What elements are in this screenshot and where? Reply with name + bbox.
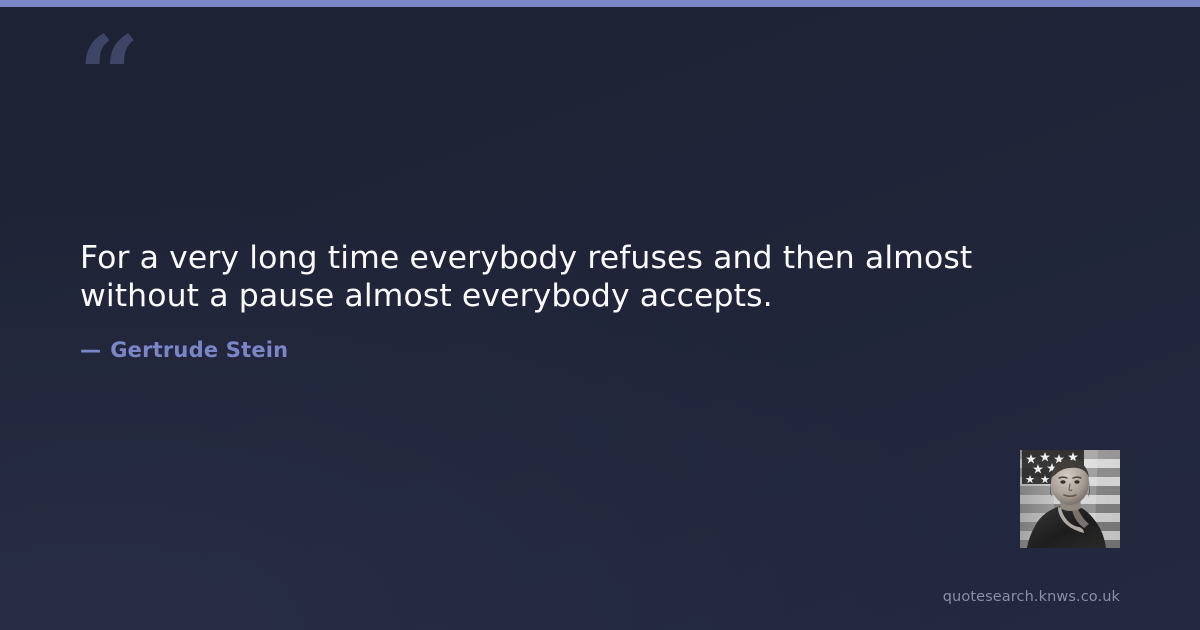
author-portrait: [1020, 450, 1120, 548]
quote-text: For a very long time everybody refuses a…: [80, 239, 1020, 315]
top-accent-bar: [0, 0, 1200, 7]
quote-attribution: —Gertrude Stein: [80, 338, 288, 362]
quote-card: “ For a very long time everybody refuses…: [0, 0, 1200, 630]
author-name: Gertrude Stein: [110, 338, 288, 362]
source-url: quotesearch.knws.co.uk: [943, 589, 1120, 605]
opening-quote-mark-icon: “: [78, 22, 138, 130]
author-portrait-image: [1020, 450, 1120, 548]
attribution-dash: —: [80, 338, 101, 362]
